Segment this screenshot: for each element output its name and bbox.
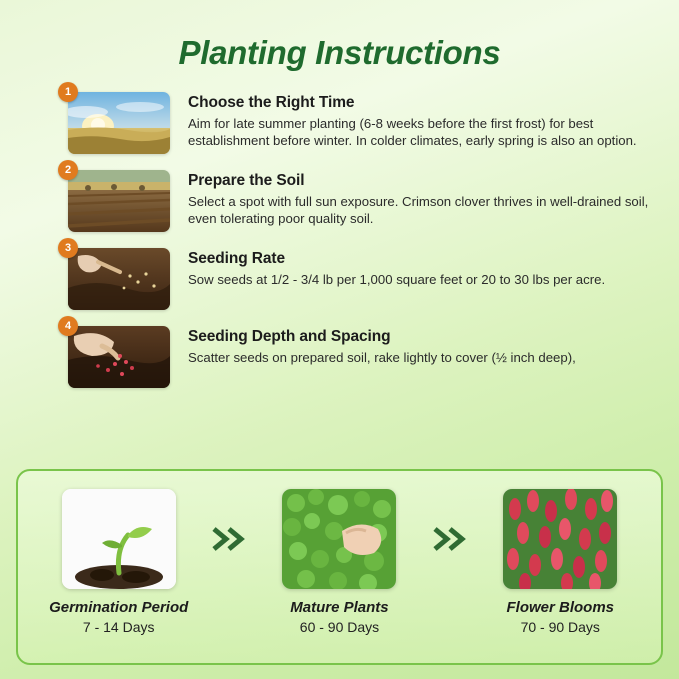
step-text: Choose the Right Time Aim for late summe… <box>188 92 657 150</box>
step-title: Choose the Right Time <box>188 94 657 112</box>
double-chevron-right-icon <box>428 489 472 551</box>
timeline-stage-days: 7 - 14 Days <box>34 619 204 635</box>
step-title: Seeding Rate <box>188 250 657 268</box>
plowed-field-photo <box>68 170 170 232</box>
step-number-badge: 2 <box>58 160 78 180</box>
step-description: Sow seeds at 1/2 - 3/4 lb per 1,000 squa… <box>188 271 657 288</box>
sprout-seedling-photo <box>62 489 176 589</box>
step-number-badge: 3 <box>58 238 78 258</box>
crimson-clover-blooms-photo <box>503 489 617 589</box>
hand-with-seeds-soil-photo <box>68 326 170 388</box>
step-number-badge: 4 <box>58 316 78 336</box>
steps-list: 1 <box>0 78 679 388</box>
clover-leaves-hand-photo <box>282 489 396 589</box>
step-title: Seeding Depth and Spacing <box>188 328 657 346</box>
step-thumbnail-wrap: 2 <box>68 170 170 232</box>
page-title: Planting Instructions <box>0 0 679 78</box>
step-description: Scatter seeds on prepared soil, rake lig… <box>188 349 657 366</box>
timeline-stage-days: 70 - 90 Days <box>475 619 645 635</box>
timeline-stage: Mature Plants 60 - 90 Days <box>254 489 424 635</box>
step-thumbnail-wrap: 1 <box>68 92 170 154</box>
step-text: Seeding Rate Sow seeds at 1/2 - 3/4 lb p… <box>188 248 657 288</box>
planting-instructions-page: Planting Instructions 1 <box>0 0 679 679</box>
step-item: 4 <box>68 326 657 388</box>
timeline-stage: Flower Blooms 70 - 90 Days <box>475 489 645 635</box>
step-text: Prepare the Soil Select a spot with full… <box>188 170 657 228</box>
step-description: Select a spot with full sun exposure. Cr… <box>188 193 657 228</box>
timeline-stage-label: Mature Plants <box>254 599 424 616</box>
step-thumbnail-wrap: 3 <box>68 248 170 310</box>
sunset-wheat-field-photo <box>68 92 170 154</box>
step-description: Aim for late summer planting (6-8 weeks … <box>188 115 657 150</box>
step-item: 3 <box>68 248 657 310</box>
timeline-stage-label: Germination Period <box>34 599 204 616</box>
timeline-stage-days: 60 - 90 Days <box>254 619 424 635</box>
step-item: 1 <box>68 92 657 154</box>
step-text: Seeding Depth and Spacing Scatter seeds … <box>188 326 657 366</box>
hand-sowing-seeds-photo <box>68 248 170 310</box>
timeline-stage-label: Flower Blooms <box>475 599 645 616</box>
step-item: 2 <box>68 170 657 232</box>
step-thumbnail-wrap: 4 <box>68 326 170 388</box>
step-title: Prepare the Soil <box>188 172 657 190</box>
step-number-badge: 1 <box>58 82 78 102</box>
double-chevron-right-icon <box>207 489 251 551</box>
timeline-stage: Germination Period 7 - 14 Days <box>34 489 204 635</box>
growth-timeline-panel: Germination Period 7 - 14 Days <box>16 469 663 665</box>
